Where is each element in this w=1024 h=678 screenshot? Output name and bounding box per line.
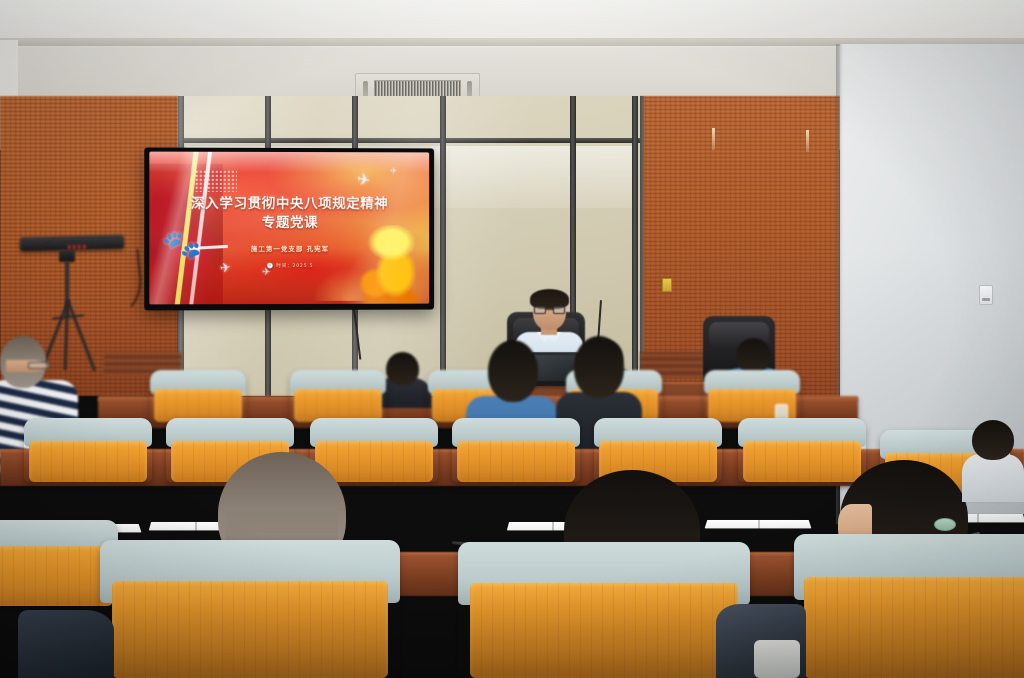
display-bezel: 🐾 ✈ ✈ ✈ ✈ 深入学习贯彻中央八项规定精神 专题党课 施工第一党支部 孔宪…: [149, 152, 429, 305]
slide-date-line: 🕐时间：2025.5: [149, 262, 429, 268]
lens-right: [553, 306, 565, 314]
presentation-slide: 🐾 ✈ ✈ ✈ ✈ 深入学习贯彻中央八项规定精神 专题党课 施工第一党支部 孔宪…: [149, 152, 429, 305]
ceiling-drop-edge: [0, 0, 1024, 42]
wall-mounted-display[interactable]: 🐾 ✈ ✈ ✈ ✈ 深入学习贯彻中央八项规定精神 专题党课 施工第一党支部 孔宪…: [144, 148, 434, 311]
seat-back-panel: [804, 577, 1024, 678]
seat-r3-2[interactable]: [458, 542, 750, 678]
dot-grid-pattern: [195, 170, 237, 192]
seat-r2-1[interactable]: [24, 418, 152, 482]
camera-light-bar: [20, 235, 124, 252]
display-top-glow: [149, 152, 429, 174]
slide-title-line-2: 专题党课: [149, 214, 429, 234]
attendee-head: [488, 340, 538, 402]
seat-back-panel: [294, 389, 382, 422]
wall-mark-a: [712, 128, 715, 150]
seat-r1-2[interactable]: [290, 370, 386, 422]
wall-mark-b: [806, 130, 809, 152]
slide-title-line-1: 深入学习贯彻中央八项规定精神: [149, 194, 429, 214]
lens-left: [534, 306, 546, 314]
seat-back-panel: [112, 581, 388, 678]
seat-back-panel: [29, 441, 147, 482]
attendee-head: [736, 338, 771, 374]
slide-date-label: 时间：2025.5: [276, 264, 313, 269]
attendee-torso: [962, 454, 1024, 502]
hair-scrunchie: [934, 518, 956, 531]
slide-subtitle: 施工第一党支部 孔宪军: [149, 243, 429, 253]
paper-sheet[interactable]: [754, 640, 800, 678]
attendee-far-right: [962, 420, 1024, 500]
open-notebook[interactable]: [705, 520, 812, 528]
glasses-bridge: [546, 309, 553, 310]
seat-r3-1[interactable]: [100, 540, 400, 678]
eyeglasses-icon: [534, 306, 565, 314]
yellow-wall-label: [662, 278, 672, 292]
slide-text-block: 深入学习贯彻中央八项规定精神 专题党课 施工第一党支部 孔宪军 🕐时间：2025…: [149, 194, 429, 269]
seat-r1-1[interactable]: [150, 370, 246, 422]
clock-icon: 🕐: [267, 263, 275, 269]
conference-room-photo: 🐾 ✈ ✈ ✈ ✈ 深入学习贯彻中央八项规定精神 专题党课 施工第一党支部 孔宪…: [0, 0, 1024, 678]
seat-r3-3[interactable]: [794, 534, 1024, 678]
eyeglasses-icon: [28, 362, 50, 369]
attendee-shoulder-left: [18, 610, 114, 678]
seat-back-panel: [470, 583, 739, 678]
attendee-head: [386, 352, 419, 386]
seat-back-panel: [0, 546, 113, 606]
attendee-head: [972, 420, 1014, 460]
wall-switch-panel[interactable]: [979, 285, 993, 305]
attendee-head: [574, 336, 624, 398]
seat-back-panel: [154, 389, 242, 422]
